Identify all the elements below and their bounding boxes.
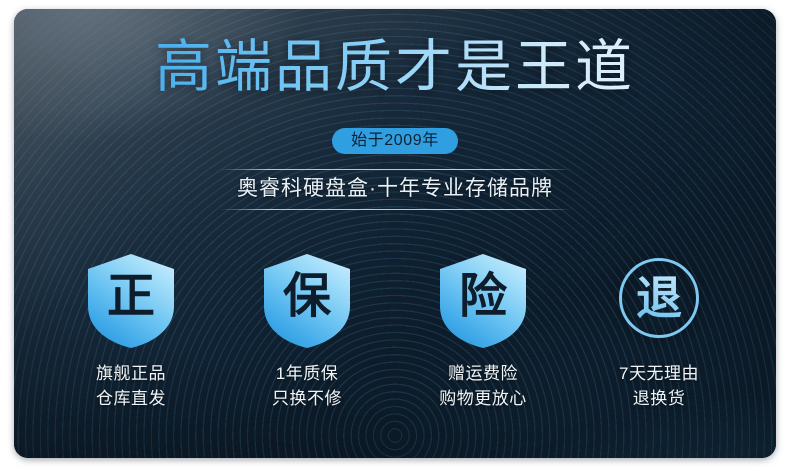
- feature-label-2: 赠运费险 购物更放心: [439, 361, 527, 411]
- badge-container: 始于2009年: [14, 128, 776, 154]
- feature-icon-2: 险: [440, 254, 526, 348]
- feature-glyph-1: 保: [264, 254, 350, 348]
- feature-label-line1: 7天无理由: [619, 361, 699, 386]
- feature-list: 正 旗舰正品 仓库直发 保 1年质保 只换不修: [14, 254, 776, 411]
- feature-label-line2: 购物更放心: [439, 386, 527, 411]
- feature-label-3: 7天无理由 退换货: [619, 361, 699, 411]
- banner-content: 高端品质才是王道 始于2009年 奥睿科硬盘盒·十年专业存储品牌 正 旗舰正品: [14, 9, 776, 458]
- feature-label-1: 1年质保 只换不修: [272, 361, 342, 411]
- established-year-badge: 始于2009年: [332, 128, 458, 154]
- feature-item-shipping-insurance: 险 赠运费险 购物更放心: [395, 254, 571, 411]
- divider-bottom: [219, 209, 571, 210]
- feature-glyph-0: 正: [88, 254, 174, 348]
- banner-subtitle: 奥睿科硬盘盒·十年专业存储品牌: [14, 170, 776, 209]
- feature-item-authentic: 正 旗舰正品 仓库直发: [43, 254, 219, 411]
- feature-label-line2: 仓库直发: [96, 386, 166, 411]
- feature-label-0: 旗舰正品 仓库直发: [96, 361, 166, 411]
- banner-panel: 高端品质才是王道 始于2009年 奥睿科硬盘盒·十年专业存储品牌 正 旗舰正品: [14, 9, 776, 458]
- subtitle-block: 奥睿科硬盘盒·十年专业存储品牌: [14, 169, 776, 210]
- feature-icon-1: 保: [264, 254, 350, 348]
- feature-label-line1: 1年质保: [272, 361, 342, 386]
- feature-label-line2: 退换货: [619, 386, 699, 411]
- feature-glyph-2: 险: [440, 254, 526, 348]
- feature-item-warranty: 保 1年质保 只换不修: [219, 254, 395, 411]
- feature-glyph-3: 退: [616, 254, 702, 342]
- banner-title: 高端品质才是王道: [14, 35, 776, 99]
- feature-label-line1: 赠运费险: [439, 361, 527, 386]
- feature-label-line2: 只换不修: [272, 386, 342, 411]
- feature-icon-3: 退: [616, 254, 702, 348]
- promo-banner: 高端品质才是王道 始于2009年 奥睿科硬盘盒·十年专业存储品牌 正 旗舰正品: [0, 0, 790, 469]
- feature-item-returns: 退 7天无理由 退换货: [571, 254, 747, 411]
- feature-icon-0: 正: [88, 254, 174, 348]
- feature-label-line1: 旗舰正品: [96, 361, 166, 386]
